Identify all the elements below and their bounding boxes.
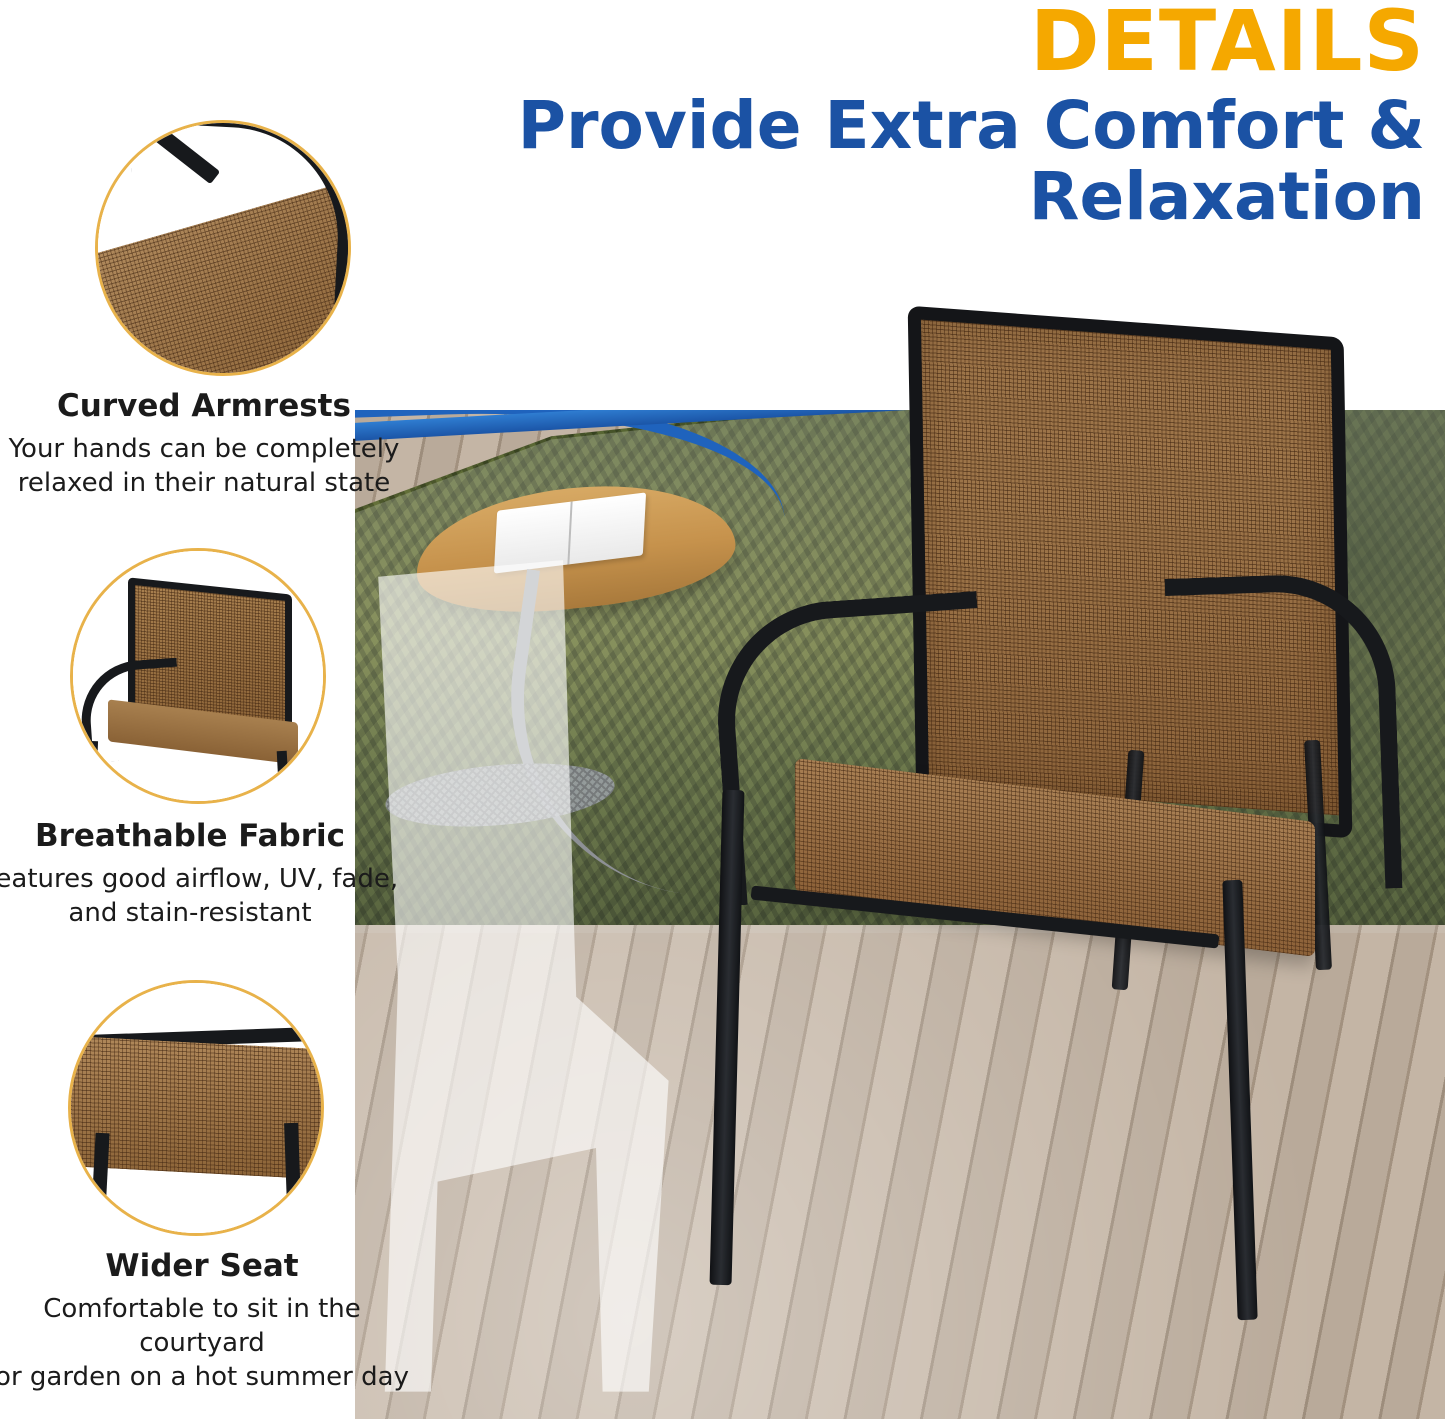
feature-desc-line-2: relaxed in their natural state bbox=[0, 467, 414, 501]
closeup-armrest-tube bbox=[122, 120, 351, 364]
feature-desc-line-2: or garden on a hot summer day bbox=[0, 1361, 412, 1395]
main-patio-chair bbox=[690, 320, 1445, 1330]
feature-desc-line-1: Comfortable to sit in the courtyard bbox=[0, 1293, 412, 1361]
feature-description: Features good airflow, UV, fade, and sta… bbox=[0, 863, 400, 931]
feature-title: Curved Armrests bbox=[0, 388, 414, 424]
headline-line-1: Provide Extra Comfort & bbox=[518, 87, 1425, 164]
armrest-closeup-photo bbox=[98, 123, 348, 373]
header-eyebrow: DETAILS bbox=[300, 2, 1425, 82]
feature-desc-line-2: and stain-resistant bbox=[0, 897, 400, 931]
seat-closeup-photo bbox=[71, 983, 321, 1233]
feature-title: Breathable Fabric bbox=[0, 818, 400, 854]
chair-right-armrest bbox=[1165, 571, 1403, 896]
callout-curved-armrests bbox=[95, 120, 351, 376]
headline-line-2: Relaxation bbox=[300, 161, 1425, 232]
feature-wider-seat: Wider Seat Comfortable to sit in the cou… bbox=[0, 1248, 412, 1394]
feature-description: Comfortable to sit in the courtyard or g… bbox=[0, 1293, 412, 1394]
feature-title: Wider Seat bbox=[0, 1248, 412, 1284]
callout-wider-seat bbox=[68, 980, 324, 1236]
chair-front-left-leg bbox=[710, 790, 745, 1285]
feature-desc-line-1: Features good airflow, UV, fade, bbox=[0, 863, 400, 897]
feature-desc-line-1: Your hands can be completely bbox=[0, 433, 414, 467]
closeup-left-leg bbox=[86, 741, 98, 801]
feature-breathable-fabric: Breathable Fabric Features good airflow,… bbox=[0, 818, 400, 931]
feature-description: Your hands can be completely relaxed in … bbox=[0, 433, 414, 501]
callout-breathable-fabric bbox=[70, 548, 326, 804]
page-header: DETAILS Provide Extra Comfort & Relaxati… bbox=[300, 0, 1435, 232]
feature-curved-armrests: Curved Armrests Your hands can be comple… bbox=[0, 388, 414, 501]
full-chair-closeup-photo bbox=[73, 551, 323, 801]
chair-left-armrest bbox=[710, 591, 997, 906]
header-headline: Provide Extra Comfort & Relaxation bbox=[300, 90, 1425, 233]
